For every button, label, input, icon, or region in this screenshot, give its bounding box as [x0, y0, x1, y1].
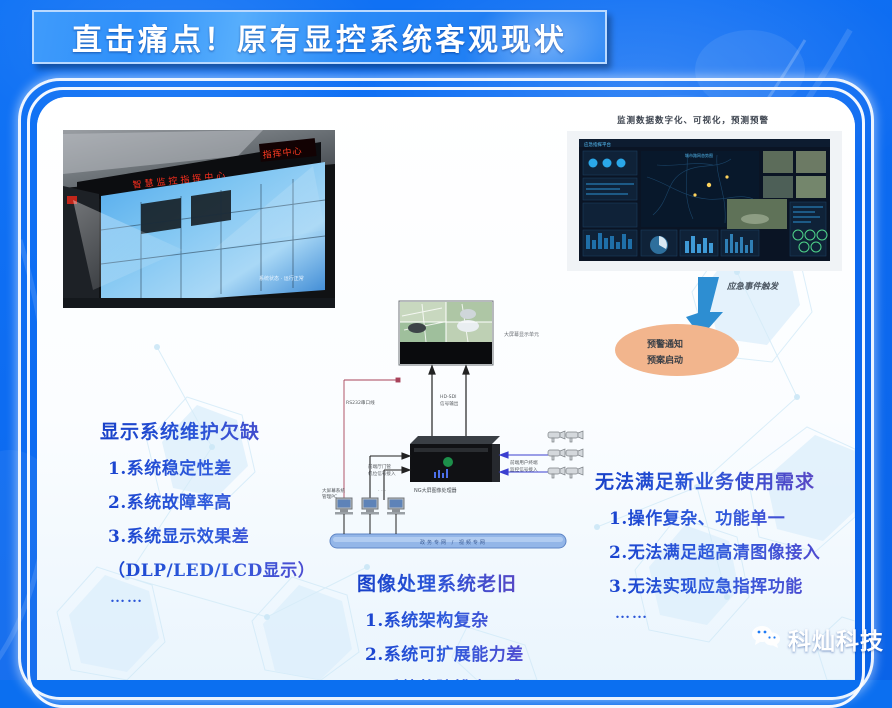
svg-text:应急指挥平台: 应急指挥平台: [584, 141, 611, 148]
svg-text:前端厅门管: 前端厅门管: [368, 463, 391, 470]
slide-title-bar: 直击痛点！原有显控系统客观现状: [32, 10, 607, 64]
architecture-diagram: 大屏幕显示单元 HD-SDI 信号输出: [322, 292, 592, 582]
svg-text:· · ·: · · ·: [378, 488, 386, 494]
arrow-label-text: 应急事件触发: [726, 281, 780, 292]
svg-text:信号输出: 信号输出: [440, 400, 459, 407]
block-item: 2.无法满足超高清图像接入: [609, 538, 820, 563]
video-wall-photo: 智慧监控指挥中心 指挥中心: [63, 130, 335, 308]
block-item: 3.无法实现应急指挥功能: [609, 572, 820, 597]
block-heading: 无法满足新业务使用需求: [595, 467, 820, 494]
block-item: 1.系统稳定性差: [108, 454, 315, 479]
ellipse-line2-text: 预案启动: [647, 354, 683, 366]
ellipse-line1-text: 预警通知: [647, 338, 683, 350]
brand-watermark: 科灿科技: [751, 622, 884, 656]
slide-background: 直击痛点！原有显控系统客观现状: [0, 0, 892, 680]
svg-text:前端用户终端: 前端用户终端: [510, 459, 538, 466]
block-item: 2.系统可扩展能力差: [365, 640, 524, 665]
svg-text:大屏幕系统: 大屏幕系统: [322, 487, 345, 494]
svg-text:城市路网态势图: 城市路网态势图: [685, 152, 713, 158]
wechat-icon: [751, 625, 781, 654]
block-ellipsis: ……: [615, 606, 820, 623]
block-item: 1.操作复杂、功能单一: [609, 504, 820, 529]
svg-text:系统状态 · 运行正常: 系统状态 · 运行正常: [259, 275, 304, 282]
text-block-new-business: 无法满足新业务使用需求 1.操作复杂、功能单一 2.无法满足超高清图像接入 3.…: [595, 467, 820, 623]
block-heading: 显示系统维护欠缺: [100, 417, 315, 444]
block-ellipsis: ……: [110, 590, 315, 607]
text-block-image-processing: 图像处理系统老旧 1.系统架构复杂 2.系统可扩展能力差 3.系统故障排查困难 …: [357, 569, 524, 680]
block-item: （DLP/LED/LCD显示）: [108, 556, 315, 581]
svg-text:管理PC: 管理PC: [322, 493, 337, 500]
block-item: 3.系统故障排查困难: [365, 674, 524, 680]
brand-name: 科灿科技: [788, 622, 884, 656]
block-heading: 图像处理系统老旧: [357, 569, 524, 596]
dashboard-mock: 监测数据数字化、可视化，预测预警 应急指挥平台: [567, 107, 842, 382]
svg-text:监控信号接入: 监控信号接入: [510, 466, 538, 473]
text-block-display-maintenance: 显示系统维护欠缺 1.系统稳定性差 2.系统故障率高 3.系统显示效果差 （DL…: [100, 417, 315, 607]
svg-text:大屏幕显示单元: 大屏幕显示单元: [504, 331, 539, 338]
block-item: 1.系统架构复杂: [365, 606, 524, 631]
svg-text:HD-SDI: HD-SDI: [440, 394, 456, 400]
block-item: 3.系统显示效果差: [108, 522, 315, 547]
page-title: 直击痛点！原有显控系统客观现状: [72, 15, 567, 59]
block-item: 2.系统故障率高: [108, 488, 315, 513]
content-panel: 智慧监控指挥中心 指挥中心: [37, 97, 855, 680]
dashboard-caption-text: 监测数据数字化、可视化，预测预警: [617, 115, 769, 126]
svg-text:政务专网 / 视频专网: 政务专网 / 视频专网: [420, 539, 487, 546]
svg-text:RS232串口线: RS232串口线: [346, 399, 375, 406]
svg-text:NG大屏图像处理器: NG大屏图像处理器: [414, 487, 457, 494]
svg-text:机位信号接入: 机位信号接入: [368, 470, 396, 477]
